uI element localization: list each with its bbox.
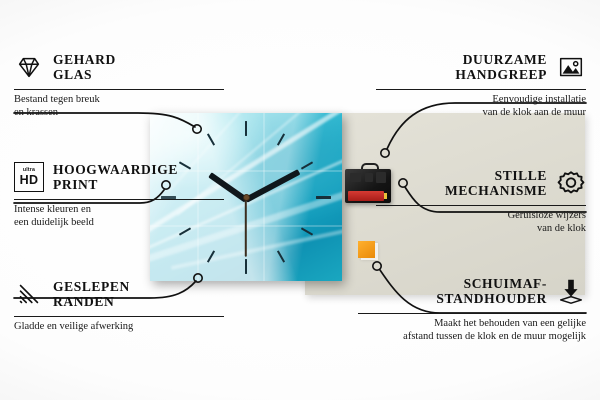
divider: [14, 89, 224, 90]
feature-title: SCHUIMAF- STANDHOUDER: [436, 276, 547, 306]
feature-description: Intense kleuren en een duidelijk beeld: [14, 204, 224, 229]
feature-geslepen-randen: GESLEPEN RANDEN Gladde en veilige afwerk…: [14, 275, 224, 334]
divider: [376, 205, 586, 206]
gear-icon: [556, 168, 586, 198]
feature-title: GEHARD GLAS: [53, 52, 116, 82]
feature-title: GESLEPEN RANDEN: [53, 279, 130, 309]
feature-description: Bestand tegen breuk en krassen: [14, 94, 224, 119]
feature-title: STILLE MECHANISME: [445, 168, 547, 198]
feature-description: Maakt het behouden van een gelijke afsta…: [358, 318, 586, 343]
feature-description: Gladde en veilige afwerking: [14, 321, 224, 334]
foam-spacer: [358, 241, 375, 258]
feature-description: Eenvoudige installatie van de klok aan d…: [376, 94, 586, 119]
divider: [358, 313, 586, 314]
divider: [14, 199, 224, 200]
feature-stille-mechanisme: STILLE MECHANISME Geruisloze wijzers van…: [376, 164, 586, 235]
second-hand: [245, 199, 247, 257]
feature-hoogwaardige-print: ultra HD HOOGWAARDIGE PRINT Intense kleu…: [14, 158, 224, 229]
picture-frame-icon: [556, 52, 586, 82]
feature-title: DUURZAME HANDGREEP: [455, 52, 547, 82]
hour-tick: [245, 259, 247, 274]
hour-tick: [245, 121, 247, 136]
infographic-canvas: GEHARD GLAS Bestand tegen breuk en krass…: [0, 0, 600, 400]
feature-title: HOOGWAARDIGE PRINT: [53, 162, 178, 192]
clock-hub: [243, 194, 250, 201]
glass-seam: [263, 113, 265, 281]
mechanism-detail: [350, 173, 361, 182]
feature-duurzame-handgreep: DUURZAME HANDGREEP Eenvoudige installati…: [376, 48, 586, 119]
feature-gehard-glas: GEHARD GLAS Bestand tegen breuk en krass…: [14, 48, 224, 119]
divider: [376, 89, 586, 90]
diamond-icon: [14, 52, 44, 82]
feature-description: Geruisloze wijzers van de klok: [376, 210, 586, 235]
divider: [14, 316, 224, 317]
diagonal-lines-icon: [14, 279, 44, 309]
mechanism-detail: [365, 173, 373, 182]
hour-tick: [316, 196, 331, 199]
down-arrow-stack-icon: [556, 276, 586, 306]
ultra-hd-icon: ultra HD: [14, 162, 44, 192]
feature-schuimafstandhouder: SCHUIMAF- STANDHOUDER Maakt het behouden…: [358, 272, 586, 343]
